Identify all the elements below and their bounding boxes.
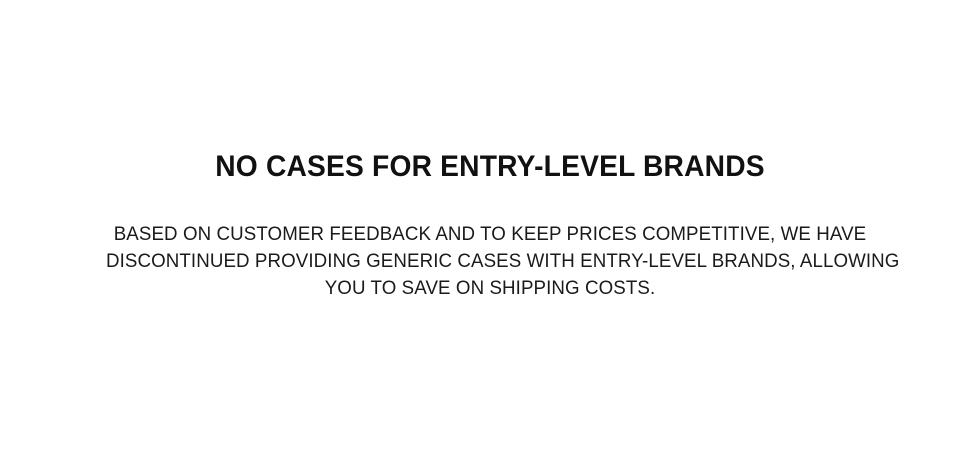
promo-content: NO CASES FOR ENTRY-LEVEL BRANDS BASED ON… [90, 150, 890, 302]
promo-description: BASED ON CUSTOMER FEEDBACK AND TO KEEP P… [106, 221, 874, 302]
page-title: NO CASES FOR ENTRY-LEVEL BRANDS [114, 150, 866, 184]
promo-description-line: BASED ON CUSTOMER FEEDBACK AND TO KEEP P… [106, 221, 874, 248]
promo-banner: NO CASES FOR ENTRY-LEVEL BRANDS BASED ON… [0, 0, 980, 450]
promo-description-line: DISCONTINUED PROVIDING GENERIC CASES WIT… [106, 248, 874, 275]
promo-description-line: YOU TO SAVE ON SHIPPING COSTS. [106, 275, 874, 302]
heading-body-spacer [90, 184, 890, 221]
